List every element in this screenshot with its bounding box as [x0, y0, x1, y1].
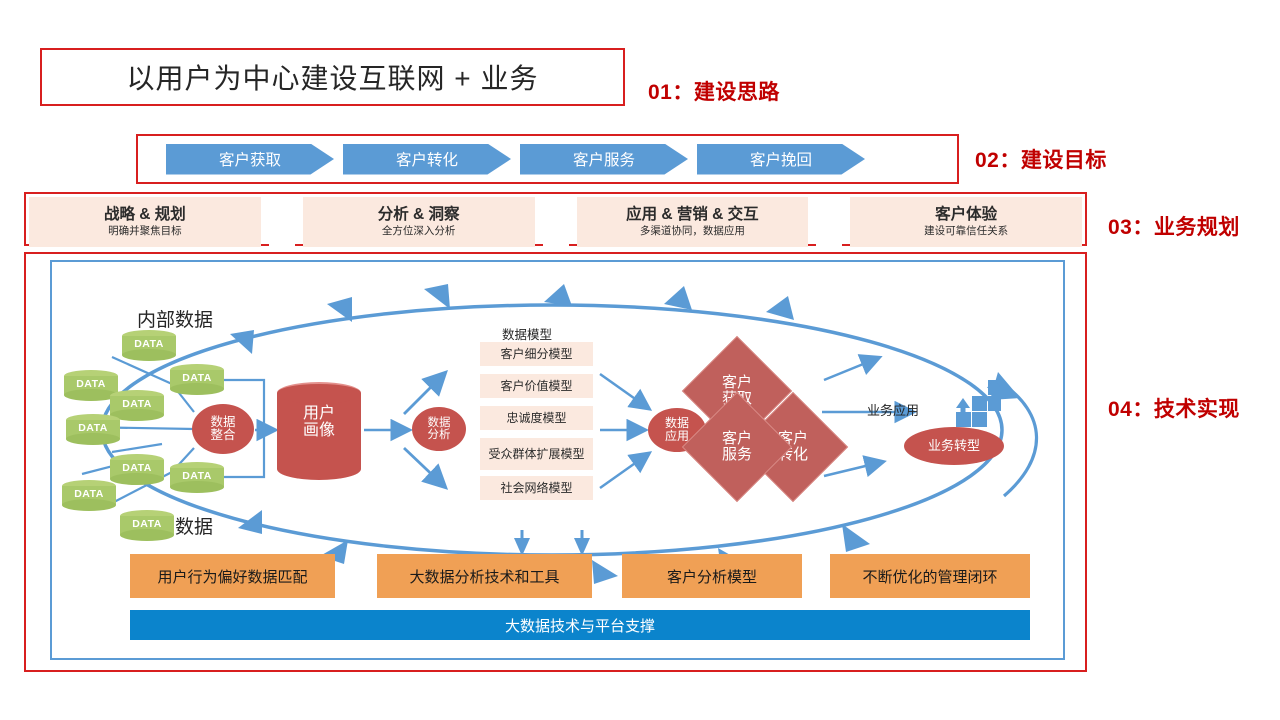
label-internal-data: 内部数据 [137, 305, 213, 332]
data-icon-label: DATA [62, 488, 116, 500]
slide-canvas: 以用户为中心建设互联网 + 业务 01：建设思路 客户获取 客户转化 客户服务 … [0, 0, 1280, 720]
planning-sub: 多渠道协同，数据应用 [640, 226, 745, 238]
cylinder-bottom [170, 481, 224, 493]
model-box-social-network[interactable]: 社会网络模型 [480, 476, 593, 500]
technical-box: 内部数据 外部数据 数据模型 业务应用 DATA DATA DATA DATA [24, 252, 1087, 672]
foundation-box-optimized-loop[interactable]: 不断优化的管理闭环 [830, 554, 1030, 598]
node-caption: 用户 画像 [277, 406, 361, 440]
label-data-model: 数据模型 [502, 324, 552, 343]
data-icon-label: DATA [64, 378, 118, 390]
planning-row: 战略 & 规划 明确并聚焦目标 分析 & 洞察 全方位深入分析 应用 & 营销 … [26, 194, 1085, 250]
data-icon-label: DATA [66, 422, 120, 434]
planning-cell-strategy[interactable]: 战略 & 规划 明确并聚焦目标 [29, 197, 261, 247]
goal-chevron-convert[interactable]: 客户转化 [343, 144, 511, 175]
growth-stairs-icon [942, 380, 1002, 432]
planning-heading: 应用 & 营销 & 交互 [626, 206, 759, 224]
node-line1: 数据 [428, 417, 451, 429]
data-icon-label: DATA [122, 338, 176, 350]
foundation-box-bigdata-tools[interactable]: 大数据分析技术和工具 [377, 554, 592, 598]
planning-divider [269, 197, 295, 247]
planning-cell-experience[interactable]: 客户体验 建设可靠信任关系 [850, 197, 1082, 247]
planning-divider [816, 197, 842, 247]
foundation-box-behavior-matching[interactable]: 用户行为偏好数据匹配 [130, 554, 335, 598]
platform-support-bar[interactable]: 大数据技术与平台支撑 [130, 610, 1030, 640]
model-box-segmentation[interactable]: 客户细分模型 [480, 342, 593, 366]
technical-diagram: 内部数据 外部数据 数据模型 业务应用 DATA DATA DATA DATA [50, 260, 1065, 660]
goal-chevron-service[interactable]: 客户服务 [520, 144, 688, 175]
planning-heading: 分析 & 洞察 [378, 206, 460, 224]
section-tag-01: 01：建设思路 [648, 76, 780, 106]
node-line2: 画像 [277, 423, 361, 440]
node-line1: 用户 [277, 406, 361, 423]
cylinder-top [277, 382, 361, 404]
cylinder-bottom [120, 529, 174, 541]
goal-chevron-row: 客户获取 客户转化 客户服务 客户挽回 [138, 144, 865, 175]
node-user-portrait[interactable]: 用户 画像 [277, 382, 361, 480]
cylinder-bottom [66, 433, 120, 445]
data-icon-label: DATA [110, 398, 164, 410]
model-box-audience-expansion[interactable]: 受众群体扩展模型 [480, 438, 593, 470]
diamond-line2: 服务 [722, 447, 752, 463]
diamond-line1: 客户 [722, 431, 752, 447]
slide-title-box: 以用户为中心建设互联网 + 业务 [40, 48, 625, 106]
section-tag-02: 02：建设目标 [975, 144, 1107, 174]
data-cylinder: DATA [110, 454, 164, 484]
section-tag-03: 03：业务规划 [1108, 211, 1240, 241]
data-icon-label: DATA [170, 470, 224, 482]
data-cylinder: DATA [170, 462, 224, 492]
data-cylinder: DATA [170, 364, 224, 394]
data-cylinder: DATA [66, 414, 120, 444]
diamond-caption: 客户 服务 [699, 409, 775, 485]
planning-heading: 客户体验 [935, 206, 997, 224]
planning-cell-analysis[interactable]: 分析 & 洞察 全方位深入分析 [303, 197, 535, 247]
goal-chevron-acquire[interactable]: 客户获取 [166, 144, 334, 175]
section-tag-04: 04：技术实现 [1108, 393, 1240, 423]
cylinder-bottom [110, 473, 164, 485]
node-line2: 应用 [665, 430, 689, 443]
cylinder-bottom [170, 383, 224, 395]
label-business-application: 业务应用 [867, 400, 919, 419]
model-box-loyalty[interactable]: 忠诚度模型 [480, 406, 593, 430]
data-cylinder: DATA [122, 330, 176, 360]
planning-heading: 战略 & 规划 [104, 206, 186, 224]
data-icon-label: DATA [170, 372, 224, 384]
planning-sub: 全方位深入分析 [382, 226, 456, 238]
planning-divider [543, 197, 569, 247]
data-cylinder: DATA [120, 510, 174, 540]
planning-sub: 明确并聚焦目标 [108, 226, 182, 238]
planning-box: 战略 & 规划 明确并聚焦目标 分析 & 洞察 全方位深入分析 应用 & 营销 … [24, 192, 1087, 246]
cylinder-bottom [62, 499, 116, 511]
node-data-integration[interactable]: 数据 整合 [192, 404, 254, 454]
model-box-value[interactable]: 客户价值模型 [480, 374, 593, 398]
data-icon-label: DATA [110, 462, 164, 474]
data-cylinder: DATA [62, 480, 116, 510]
planning-sub: 建设可靠信任关系 [924, 226, 1008, 238]
goal-chevron-retain[interactable]: 客户挽回 [697, 144, 865, 175]
foundation-box-customer-analysis-model[interactable]: 客户分析模型 [622, 554, 802, 598]
node-line2: 分析 [428, 429, 451, 441]
page-title: 以用户为中心建设互联网 + 业务 [127, 57, 539, 97]
node-business-transformation[interactable]: 业务转型 [904, 427, 1004, 465]
diamond-line1: 客户 [722, 375, 752, 391]
data-icon-label: DATA [120, 518, 174, 530]
cylinder-bottom [122, 349, 176, 361]
goals-box: 客户获取 客户转化 客户服务 客户挽回 [136, 134, 959, 184]
node-data-analysis[interactable]: 数据 分析 [412, 407, 466, 451]
node-line2: 整合 [210, 429, 235, 442]
planning-cell-application[interactable]: 应用 & 营销 & 交互 多渠道协同，数据应用 [577, 197, 809, 247]
